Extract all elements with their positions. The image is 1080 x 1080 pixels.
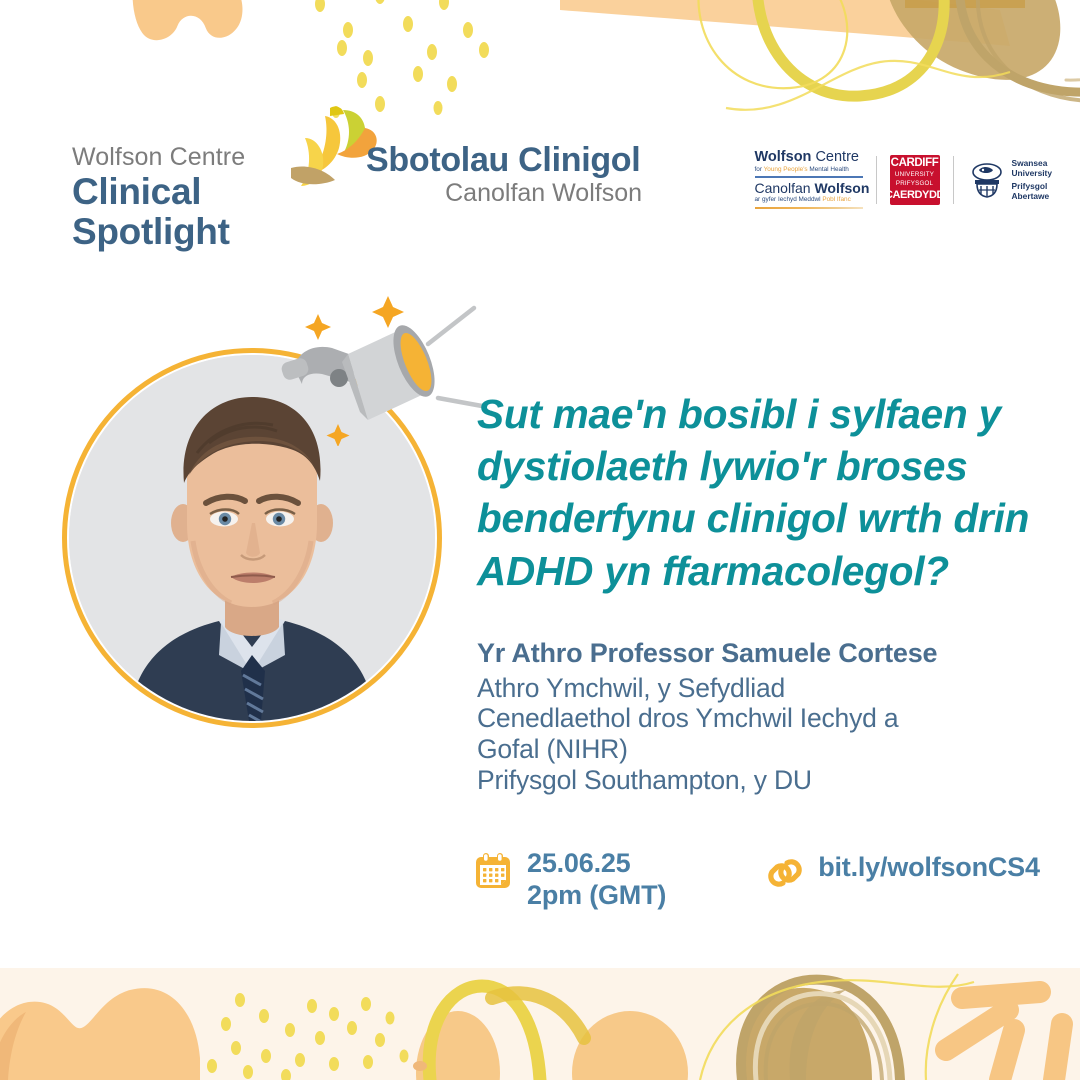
calendar-icon xyxy=(473,851,513,896)
speaker-role-line2: Cenedlaethol dros Ymchwil Iechyd a xyxy=(477,703,1037,734)
logo-divider-1 xyxy=(876,156,877,204)
swansea-logo-line2: University xyxy=(1012,168,1053,178)
swansea-logo-line1: Swansea xyxy=(1012,158,1053,168)
wolfson-logo-divider xyxy=(755,176,863,178)
wolfson-logo-accent-rule xyxy=(755,207,863,210)
cardiff-logo-line2: UNIVERSITY xyxy=(895,172,934,178)
chain-link-icon xyxy=(766,854,804,897)
event-time: 2pm (GMT) xyxy=(527,880,666,912)
brand-cy-line1: Sbotolau Clinigol xyxy=(366,142,666,179)
bottom-decorative-band xyxy=(0,968,1080,1080)
wolfson-logo-cy-sub: ar gyfer Iechyd Meddwl Pobl Ifanc xyxy=(755,196,863,204)
event-datetime-text: 25.06.25 2pm (GMT) xyxy=(527,848,666,911)
event-date: 25.06.25 xyxy=(527,848,666,880)
swansea-crest-icon xyxy=(967,160,1007,200)
poster-canvas: Wolfson Centre Clinical Spotlight Sbotol… xyxy=(0,0,1080,1080)
brand-welsh: Sbotolau Clinigol Canolfan Wolfson xyxy=(366,142,666,207)
logo-divider-2 xyxy=(953,156,954,204)
registration-link[interactable]: bit.ly/wolfsonCS4 xyxy=(818,852,1040,884)
speaker-details: Yr Athro Professor Samuele Cortese Athro… xyxy=(477,636,1037,795)
top-decor-shapes xyxy=(0,0,1080,120)
event-datetime: 25.06.25 2pm (GMT) xyxy=(473,848,666,911)
wolfson-centre-logo: Wolfson Centre for Young People's Mental… xyxy=(755,150,863,209)
partner-logos: Wolfson Centre for Young People's Mental… xyxy=(755,150,1053,209)
cardiff-logo-line3: PRIFYSGOL xyxy=(896,181,933,187)
swansea-logo-line4: Abertawe xyxy=(1012,191,1053,201)
cardiff-university-logo: CARDIFF UNIVERSITY PRIFYSGOL CAERDYDD xyxy=(890,155,940,205)
speaker-role-line1: Athro Ymchwil, y Sefydliad xyxy=(477,673,1037,704)
wolfson-logo-en-sub: for Young People's Mental Health xyxy=(755,166,863,174)
swansea-university-logo: Swansea University Prifysgol Abertawe xyxy=(967,158,1053,201)
cardiff-logo-line4: CAERDYDD xyxy=(885,190,944,201)
speaker-role-line3: Gofal (NIHR) xyxy=(477,734,1037,765)
speaker-name: Yr Athro Professor Samuele Cortese xyxy=(477,636,1037,671)
swansea-logo-line3: Prifysgol xyxy=(1012,181,1053,191)
swansea-logo-text: Swansea University Prifysgol Abertawe xyxy=(1012,158,1053,201)
bottom-decor-shapes xyxy=(0,968,1080,1080)
top-decorative-band xyxy=(0,0,1080,120)
event-meta-row: 25.06.25 2pm (GMT) bit.ly/wolfsonCS4 xyxy=(473,848,1040,911)
speaker-affiliation: Prifysgol Southampton, y DU xyxy=(477,765,1037,796)
wolfson-logo-en-title: Wolfson Centre xyxy=(755,150,863,165)
wolfson-logo-cy-title: Canolfan Wolfson xyxy=(755,181,863,195)
cardiff-logo-line1: CARDIFF xyxy=(891,158,939,170)
registration-link-group[interactable]: bit.ly/wolfsonCS4 xyxy=(766,848,1040,897)
page-title: Sut mae'n bosibl i sylfaen y dystiolaeth… xyxy=(477,388,1037,597)
brand-cy-line2: Canolfan Wolfson xyxy=(366,180,666,208)
